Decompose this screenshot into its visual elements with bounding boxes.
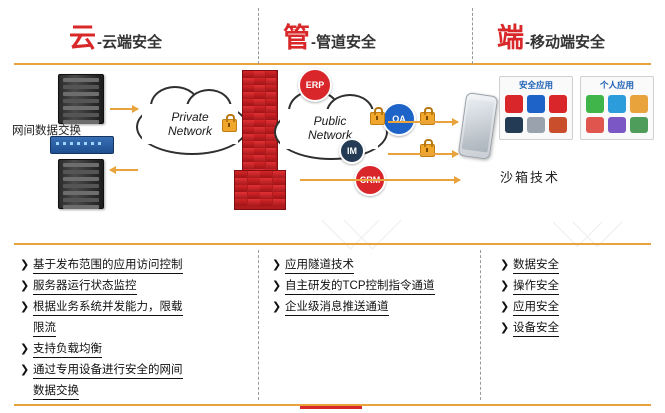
padlock-icon-4 (420, 144, 435, 157)
header: 云-云端安全 管-管道安全 端-移动端安全 (0, 0, 665, 62)
flow-arrow-racks-to-private (110, 108, 138, 110)
list-item-label: 自主研发的TCP控制指令通道 (285, 279, 435, 295)
chevron-right-icon: ❯ (20, 258, 33, 273)
list-item-label: 操作安全 (513, 279, 559, 295)
secure-app-tile-crm (505, 95, 523, 113)
personal-app-tile-4 (586, 117, 604, 133)
secure-app-tile-6 (549, 117, 567, 133)
column-title-device: 端-移动端安全 (497, 16, 605, 55)
list-item-label: 数据安全 (513, 258, 559, 274)
list-item: ❯ 通过专用设备进行安全的网间 (20, 363, 183, 379)
list-item: ❯ 服务器运行状态监控 (20, 279, 137, 295)
firewall-left-base-icon (234, 170, 286, 210)
footer-accent-bar (300, 406, 362, 409)
list-item-label: 基于发布范围的应用访问控制 (33, 258, 183, 274)
chevron-right-icon: ❯ (20, 342, 33, 357)
personal-app-tile-3 (630, 95, 648, 113)
list-item: ❯ 自主研发的TCP控制指令通道 (272, 279, 435, 295)
public-network-label: Public Network (288, 114, 372, 142)
app-bubble-erp: ERP (298, 68, 332, 102)
personal-app-tile-5 (608, 117, 626, 133)
padlock-icon-2 (370, 112, 385, 125)
secure-app-tile-4 (505, 117, 523, 133)
network-device-leds (56, 142, 104, 145)
private-network-label-line1: Private (171, 110, 208, 124)
personal-app-tile-2 (608, 95, 626, 113)
list-item: ❯ 操作安全 (500, 279, 559, 295)
list-item: ❯ 应用安全 (500, 300, 559, 316)
list-item-label: 企业级消息推送通道 (285, 300, 389, 316)
secure-app-tile-erp (549, 95, 567, 113)
list-item-label: 应用隧道技术 (285, 258, 354, 274)
column-title-cloud-sub: -云端安全 (97, 34, 162, 51)
column-separator-2 (472, 8, 473, 64)
architecture-diagram: 网间数据交换 Private Network (0, 64, 665, 242)
personal-apps-panel: 个人应用 (580, 76, 654, 140)
sandbox-label: 沙箱技术 (500, 167, 560, 186)
padlock-icon-3 (420, 112, 435, 125)
left-label-data-exchange: 网间数据交换 (12, 122, 81, 138)
list-item: ❯ 设备安全 (500, 321, 559, 337)
list-item-label: 服务器运行状态监控 (33, 279, 137, 295)
list-item-label: 通过专用设备进行安全的网间 (33, 363, 183, 379)
personal-app-tile-6 (630, 117, 648, 133)
flow-arrow-private-to-racks (110, 169, 138, 171)
list-item-label: 设备安全 (513, 321, 559, 337)
private-network-label: Private Network (148, 110, 232, 138)
list-item: ❯ 应用隧道技术 (272, 258, 354, 274)
list-item: ❯ 企业级消息推送通道 (272, 300, 389, 316)
list-item-continuation: 限流 (33, 321, 56, 337)
list-item: ❯ 支持负载均衡 (20, 342, 102, 358)
server-rack-bottom-icon (58, 159, 104, 209)
flow-arrow-bottom-long (300, 179, 460, 181)
divider-middle (14, 243, 651, 245)
slide-root: 云-云端安全 管-管道安全 端-移动端安全 网间数据交换 P (0, 0, 665, 413)
personal-app-tile-1 (586, 95, 604, 113)
list-item: ❯ 基于发布范围的应用访问控制 (20, 258, 183, 274)
column-title-cloud-char: 云 (69, 23, 97, 53)
public-network-label-line1: Public (314, 114, 347, 128)
column-title-device-sub: -移动端安全 (525, 34, 605, 51)
list-item: ❯ 根据业务系统并发能力，限载 (20, 300, 183, 316)
chevron-right-icon: ❯ (20, 279, 33, 294)
secure-apps-caption: 安全应用 (500, 79, 572, 91)
flow-arrow-public-to-device-mid (388, 153, 458, 155)
list-item-label: 支持负载均衡 (33, 342, 102, 358)
column-title-pipe-sub: -管道安全 (311, 34, 376, 51)
secure-app-tile-oa (527, 95, 545, 113)
network-device-icon (50, 136, 114, 154)
column-title-cloud: 云-云端安全 (69, 16, 162, 55)
padlock-icon-1 (222, 119, 237, 132)
app-bubble-im: IM (339, 138, 365, 164)
chevron-right-icon: ❯ (500, 300, 513, 315)
secure-app-tile-5 (527, 117, 545, 133)
column-title-pipe-char: 管 (283, 23, 311, 53)
list-item-continuation: 数据交换 (33, 384, 79, 400)
list-item-label: 数据交换 (33, 384, 79, 400)
phone-screen (462, 98, 495, 152)
list-item-label: 限流 (33, 321, 56, 337)
personal-apps-caption: 个人应用 (581, 79, 653, 91)
chevron-right-icon: ❯ (272, 300, 285, 315)
chevron-right-icon: ❯ (500, 258, 513, 273)
private-network-label-line2: Network (168, 124, 212, 138)
chevron-right-icon: ❯ (272, 279, 285, 294)
list-item: ❯ 数据安全 (500, 258, 559, 274)
list-item-label: 应用安全 (513, 300, 559, 316)
chevron-right-icon: ❯ (500, 279, 513, 294)
chevron-right-icon: ❯ (272, 258, 285, 273)
bullet-lists: ❯ 基于发布范围的应用访问控制 ❯ 服务器运行状态监控 ❯ 根据业务系统并发能力… (0, 246, 665, 404)
chevron-right-icon: ❯ (20, 363, 33, 378)
flow-arrow-public-to-device-top (388, 121, 458, 123)
app-bubble-oa: OA (382, 102, 416, 136)
column-title-device-char: 端 (497, 23, 525, 53)
secure-apps-panel: 安全应用 (499, 76, 573, 140)
column-separator-1 (258, 8, 259, 64)
server-rack-top-icon (58, 74, 104, 124)
chevron-right-icon: ❯ (500, 321, 513, 336)
chevron-right-icon: ❯ (20, 300, 33, 315)
column-title-pipe: 管-管道安全 (283, 16, 376, 55)
mobile-phone-icon (458, 92, 499, 160)
list-item-label: 根据业务系统并发能力，限载 (33, 300, 183, 316)
